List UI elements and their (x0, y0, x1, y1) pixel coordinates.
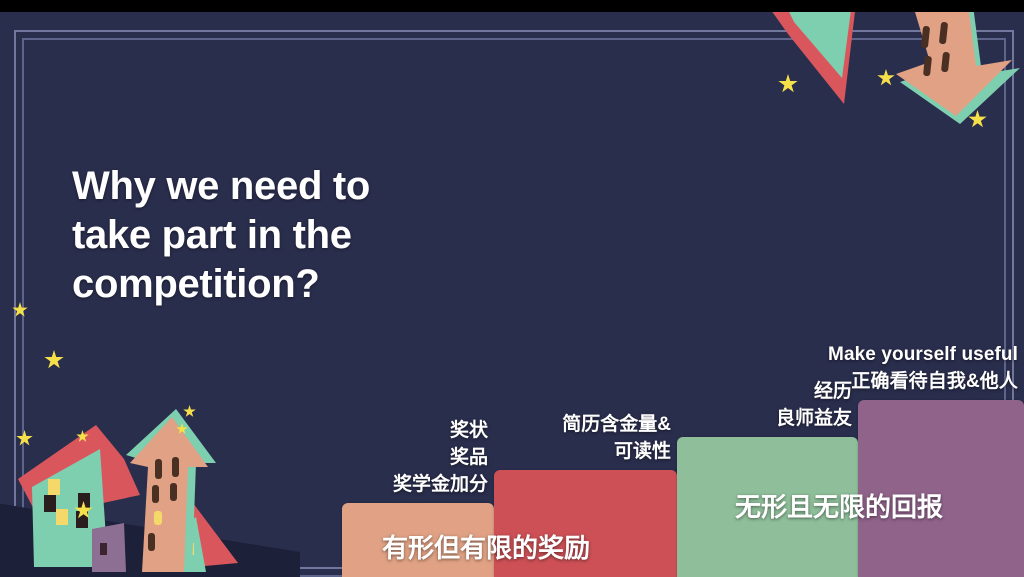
chart-bar-2 (494, 470, 677, 577)
presentation-slide: Why we need to take part in the competit… (0, 0, 1024, 577)
bar-above-label-3: 经历 良师益友 (776, 379, 852, 433)
star-icon (12, 302, 28, 318)
chart-bar-1 (342, 503, 494, 577)
bottom-left-village-decoration (0, 367, 300, 577)
page-title: Why we need to take part in the competit… (72, 162, 592, 310)
slide-canvas: Why we need to take part in the competit… (0, 12, 1024, 577)
arrow-down-salmon-icon (896, 12, 1020, 124)
top-right-decoration (724, 12, 1024, 162)
bar-above-label-4: Make yourself useful 正确看待自我&他人 (828, 342, 1018, 396)
chart-bar-4 (858, 400, 1024, 577)
caption-intangible: 无形且无限的回报 (735, 487, 943, 524)
chevron-teal-red-icon (744, 12, 859, 104)
bar-above-label-2: 简历含金量& 可读性 (562, 412, 671, 466)
chart-bar-3 (677, 437, 858, 577)
bar-above-label-1: 奖状 奖品 奖学金加分 (393, 418, 488, 499)
house-purple-icon (92, 523, 126, 572)
caption-tangible: 有形但有限的奖励 (382, 528, 590, 565)
